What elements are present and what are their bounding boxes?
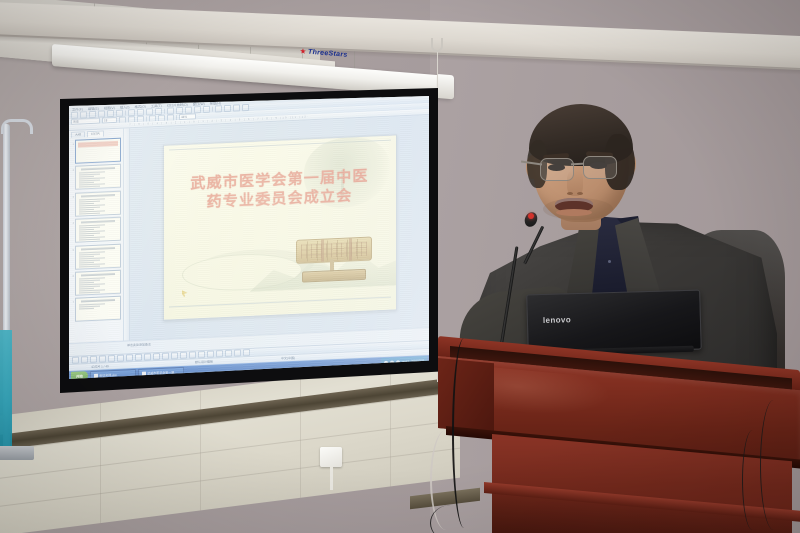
- arrow-icon[interactable]: [108, 355, 115, 362]
- thumbnail-text-line: [79, 308, 95, 310]
- bamboo-scroll-icon: [296, 237, 370, 286]
- slide-thumbnail-row[interactable]: 1: [71, 138, 121, 164]
- slide-bottom-rule: [169, 296, 391, 307]
- wordart-icon[interactable]: [144, 353, 151, 360]
- taskbar-item-label: 会议安排.doc: [99, 372, 117, 377]
- podium-cable-right: [760, 400, 787, 530]
- picture-icon[interactable]: [171, 352, 178, 359]
- slide-thumbnail-number: 5: [71, 245, 74, 251]
- slide-thumbnail[interactable]: [75, 243, 121, 269]
- toolbar-separator: [164, 109, 165, 114]
- hyperlink-icon[interactable]: [203, 106, 210, 113]
- slide-thumbnail-row[interactable]: 5: [71, 243, 121, 269]
- autoshapes-icon[interactable]: [90, 356, 97, 363]
- document-icon: [94, 373, 98, 377]
- fontcolor-icon[interactable]: [198, 351, 205, 358]
- dashstyle-icon[interactable]: [216, 350, 223, 357]
- junction-box-conduit: [330, 466, 333, 490]
- line-icon[interactable]: [99, 355, 106, 362]
- draw-menu[interactable]: [72, 357, 79, 364]
- toolbar-separator: [212, 107, 213, 112]
- slide-thumbnail[interactable]: [75, 190, 121, 216]
- slide-thumbnail[interactable]: [75, 296, 121, 322]
- powerpoint-window[interactable]: Microsoft PowerPoint 文件(F)编辑(E)视图(V)插入(I…: [69, 96, 429, 379]
- thumbnail-header-block: [81, 167, 115, 171]
- banner-stand-base: [0, 446, 34, 460]
- fillcolor-icon[interactable]: [180, 352, 187, 359]
- thumbnail-text-line: [79, 239, 100, 241]
- thumbnail-text-line: [79, 186, 100, 188]
- slide-thumbnail-row[interactable]: 6: [71, 270, 121, 296]
- linestyle-icon[interactable]: [207, 351, 214, 358]
- newslide-icon[interactable]: [215, 105, 222, 112]
- toolbar-separator-2: [176, 115, 177, 120]
- glasses-lens-right: [583, 156, 617, 179]
- lower-lip: [556, 209, 592, 216]
- nostril-right: [577, 192, 583, 195]
- shadow-icon[interactable]: [234, 349, 241, 356]
- expand-icon[interactable]: [224, 105, 231, 112]
- toolbar-separator: [146, 116, 147, 121]
- podium-cable-left: [452, 338, 476, 528]
- projector-screen-surface: Microsoft PowerPoint 文件(F)编辑(E)视图(V)插入(I…: [69, 96, 429, 379]
- presentation-icon: [142, 371, 146, 375]
- grayscale-icon[interactable]: [233, 104, 240, 111]
- mouse-cursor-icon: [182, 290, 188, 297]
- slide-title-text: 武威市医学会第一届中医 药专业委员会成立会: [164, 165, 396, 214]
- slide-thumbnail-row[interactable]: 4: [71, 217, 121, 243]
- rectangle-icon[interactable]: [117, 355, 124, 362]
- thumbnail-text-line: [79, 265, 100, 267]
- slide-thumbnail[interactable]: [75, 138, 121, 164]
- screen-hook-icon: [431, 38, 443, 52]
- thumbnail-title-block: [78, 141, 118, 148]
- chart-icon[interactable]: [194, 106, 201, 113]
- slide-thumbnail-number: 4: [71, 219, 74, 225]
- slide-thumbnail[interactable]: [75, 217, 121, 243]
- thumbnail-header-block: [81, 299, 115, 303]
- clipart-icon[interactable]: [162, 353, 169, 360]
- start-button[interactable]: 开始: [71, 371, 88, 379]
- shirt-button: [608, 260, 611, 263]
- slide-thumbnail-row[interactable]: 3: [71, 190, 121, 216]
- wall-junction-box: [320, 447, 342, 467]
- toolbar-separator: [125, 110, 126, 115]
- thumbnail-text-line: [79, 292, 100, 294]
- slide-thumbnail-number: 6: [71, 272, 74, 278]
- slide-thumbnail-number: 7: [71, 298, 74, 304]
- slide-thumbnail-number: 2: [71, 166, 74, 172]
- thumbnail-header-block: [81, 220, 115, 224]
- diagram-icon[interactable]: [153, 353, 160, 360]
- current-slide[interactable]: 武威市医学会第一届中医 药专业委员会成立会: [163, 134, 397, 320]
- microphone-power-led: [528, 213, 534, 219]
- thumbnail-text-line: [79, 212, 100, 214]
- laptop-brand-label: lenovo: [543, 315, 571, 325]
- slide-thumbnail-number: 1: [71, 140, 74, 146]
- nostril-left: [567, 192, 573, 195]
- 3d-icon[interactable]: [243, 349, 250, 356]
- housing-end-cap: [436, 74, 454, 99]
- ppt-menu-item[interactable]: 编辑(E): [88, 105, 99, 110]
- slide-thumbnail-number: 3: [71, 193, 74, 199]
- textbox-icon[interactable]: [135, 354, 142, 361]
- help-icon[interactable]: [242, 104, 249, 111]
- red-star-icon: [300, 48, 306, 54]
- thumbnail-header-block: [81, 194, 115, 198]
- conference-room-photo: ThreeStars Microsoft PowerPoint 文件(F)编辑(…: [0, 0, 800, 533]
- arrowstyle-icon[interactable]: [225, 350, 232, 357]
- slide-editing-stage[interactable]: 武威市医学会第一届中医 药专业委员会成立会: [130, 115, 429, 340]
- oval-icon[interactable]: [126, 354, 133, 361]
- thumbnail-header-block: [81, 247, 115, 251]
- slide-thumbnail-row[interactable]: 2: [71, 164, 121, 190]
- slide-thumbnail[interactable]: [75, 164, 121, 190]
- podium-cable-floor: [430, 505, 471, 533]
- thumbnail-header-block: [81, 273, 115, 277]
- slide-panel[interactable]: 大纲幻灯片 1234567: [69, 129, 124, 343]
- banner-stand-graphic: [0, 330, 12, 450]
- podium-cable-right-2: [742, 430, 763, 530]
- linecolor-icon[interactable]: [189, 351, 196, 358]
- slide-thumbnail-row[interactable]: 7: [71, 296, 121, 322]
- slide-thumbnail-list[interactable]: 1234567: [69, 136, 123, 343]
- slide-thumbnail[interactable]: [75, 270, 121, 296]
- select-icon[interactable]: [81, 356, 88, 363]
